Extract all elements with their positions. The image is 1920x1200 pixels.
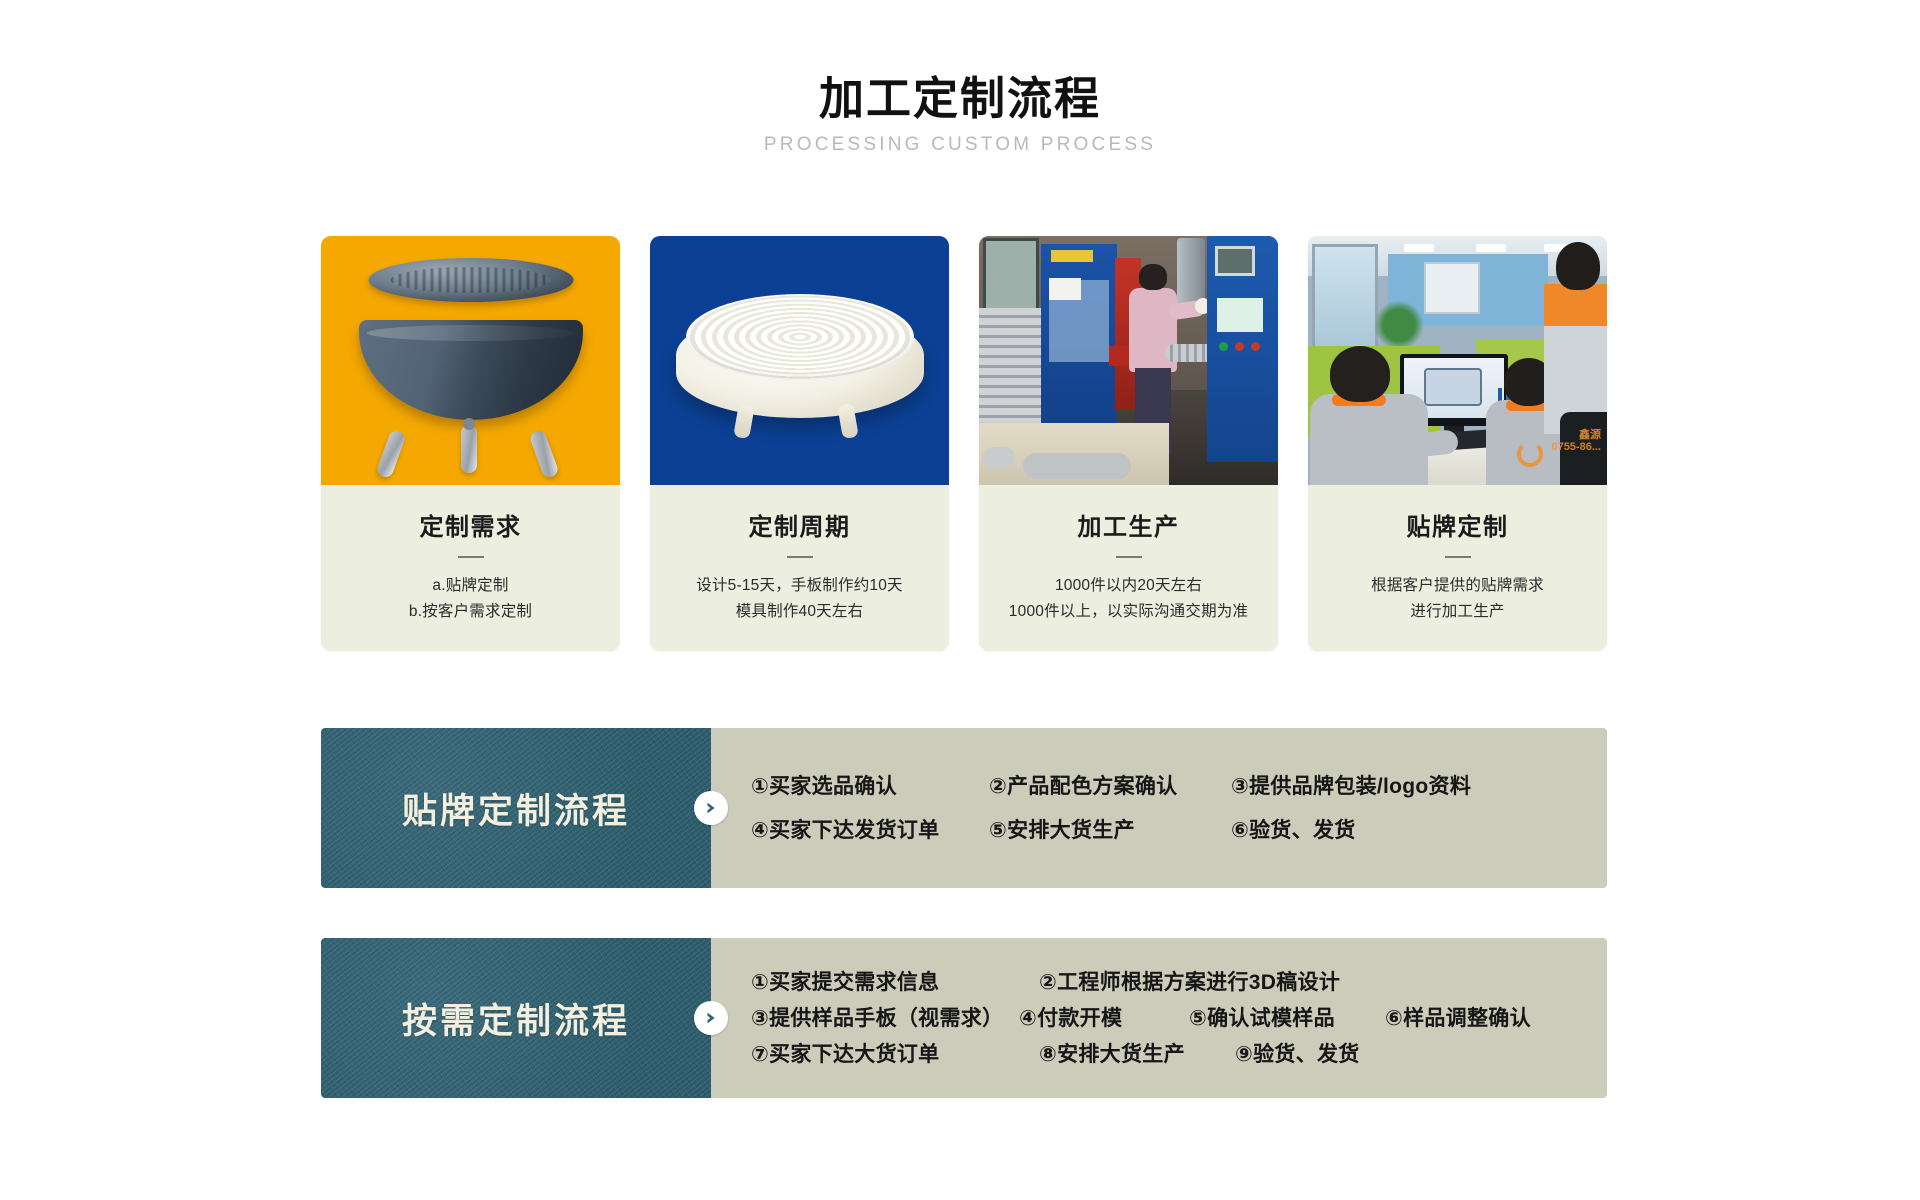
banner-label-text: 贴牌定制流程 [402,783,630,834]
card-title: 定制需求 [333,507,608,542]
process-step: ③提供品牌包装/logo资料 [1231,776,1471,797]
prototype-top-shape [686,294,914,380]
card-description: 设计5-15天，手板制作约10天 模具制作40天左右 [662,573,937,625]
grill-bowl-shape [359,320,583,420]
grill-leg-shape [528,429,559,480]
factory-production-photo [979,236,1278,485]
process-step: ⑧安排大货生产 [1039,1044,1235,1065]
card-body: 定制周期 设计5-15天，手板制作约10天 模具制作40天左右 [650,485,949,651]
card-body: 定制需求 a.贴牌定制 b.按客户需求定制 [321,485,620,651]
card-body: 贴牌定制 根据客户提供的贴牌需求 进行加工生产 [1308,485,1607,651]
grill-leg-shape [461,425,477,473]
chevron-right-icon[interactable] [694,1001,728,1035]
card-description-line: 设计5-15天，手板制作约10天 [662,573,937,599]
worker-head [1139,264,1167,290]
control-screen [1217,298,1263,332]
step-row: ③提供样品手板（视需求） ④付款开模 ⑤确认试模样品 ⑥样品调整确认 [751,1000,1607,1036]
process-card-oem-custom[interactable]: 鑫源 0755-86... 贴牌定制 根据客户提供的贴牌需求 进行加工生产 [1308,236,1607,651]
office-design-team-photo: 鑫源 0755-86... [1308,236,1607,485]
card-description: 1000件以内20天左右 1000件以上，以实际沟通交期为准 [991,573,1266,625]
banner-label-oem: 贴牌定制流程 [321,728,711,888]
office-plant [1374,294,1424,346]
control-button [1235,342,1244,351]
cad-drawing-on-screen [1424,368,1482,406]
card-description-line: a.贴牌定制 [333,573,608,599]
page-title: 加工定制流程 [0,74,1920,124]
process-step: ①买家选品确认 [751,776,989,797]
card-divider [787,556,813,558]
processing-custom-process-page: 加工定制流程 PROCESSING CUSTOM PROCESS 定制需求 a.… [0,0,1920,1200]
card-description-line: 模具制作40天左右 [662,599,937,625]
process-card-custom-requirement[interactable]: 定制需求 a.贴牌定制 b.按客户需求定制 [321,236,620,651]
card-description-line: 1000件以上，以实际沟通交期为准 [991,599,1266,625]
control-button [1219,342,1228,351]
process-step: ④付款开模 [1019,1008,1189,1029]
step-row: ①买家提交需求信息 ②工程师根据方案进行3D稿设计 [751,964,1607,1000]
process-step: ⑥验货、发货 [1231,820,1356,841]
page-subtitle: PROCESSING CUSTOM PROCESS [0,134,1920,156]
banner-steps-oem: ①买家选品确认 ②产品配色方案确认 ③提供品牌包装/logo资料 ④买家下达发货… [711,728,1607,888]
process-step: ⑦买家下达大货订单 [751,1044,1039,1065]
chevron-right-icon[interactable] [694,791,728,825]
process-cards-row: 定制需求 a.贴牌定制 b.按客户需求定制 定制周期 设计5-15天，手板 [321,236,1607,651]
watermark-ring-icon [1517,441,1543,467]
machine-yellow-label [1051,250,1093,262]
grill-leg-shape [375,429,406,480]
process-step: ⑨验货、发货 [1235,1044,1360,1065]
process-card-production[interactable]: 加工生产 1000件以内20天左右 1000件以上，以实际沟通交期为准 [979,236,1278,651]
card-title: 加工生产 [991,507,1266,542]
engineer-head [1330,346,1390,402]
warning-sign [1049,278,1081,300]
step-row: ①买家选品确认 ②产品配色方案确认 ③提供品牌包装/logo资料 [751,764,1607,808]
product-exploded-view-image [321,236,620,485]
process-step: ⑥样品调整确认 [1385,1008,1531,1029]
process-step: ①买家提交需求信息 [751,972,1039,993]
watermark-line: 鑫源 [1509,429,1601,441]
card-description-line: 1000件以内20天左右 [991,573,1266,599]
engineer-head [1556,242,1600,290]
process-step: ⑤确认试模样品 [1189,1008,1385,1029]
process-step: ③提供样品手板（视需求） [751,1008,1019,1029]
card-description-line: 根据客户提供的贴牌需求 [1320,573,1595,599]
company-watermark-logo: 鑫源 0755-86... [1509,429,1601,477]
molded-part [1023,453,1131,479]
on-demand-custom-process-banner: 按需定制流程 ①买家提交需求信息 ②工程师根据方案进行3D稿设计 ③提供样品手板… [321,938,1607,1098]
molded-part [983,447,1015,469]
card-divider [1445,556,1471,558]
card-divider [1116,556,1142,558]
control-screen [1215,246,1255,276]
process-step: ④买家下达发货订单 [751,820,989,841]
process-step: ②产品配色方案确认 [989,776,1231,797]
white-prototype-sample-image [650,236,949,485]
process-card-custom-cycle[interactable]: 定制周期 设计5-15天，手板制作约10天 模具制作40天左右 [650,236,949,651]
office-window [1312,244,1378,354]
card-title: 定制周期 [662,507,937,542]
process-step: ⑤安排大货生产 [989,820,1231,841]
step-row: ⑦买家下达大货订单 ⑧安排大货生产 ⑨验货、发货 [751,1036,1607,1072]
banner-label-text: 按需定制流程 [402,993,630,1044]
step-row: ④买家下达发货订单 ⑤安排大货生产 ⑥验货、发货 [751,808,1607,852]
page-header: 加工定制流程 PROCESSING CUSTOM PROCESS [0,0,1920,156]
card-description: 根据客户提供的贴牌需求 进行加工生产 [1320,573,1595,625]
card-description-line: 进行加工生产 [1320,599,1595,625]
ceiling-light [1404,244,1434,252]
grill-lid-shape [368,258,573,302]
ceiling-light [1476,244,1506,252]
card-title: 贴牌定制 [1320,507,1595,542]
card-body: 加工生产 1000件以内20天左右 1000件以上，以实际沟通交期为准 [979,485,1278,651]
card-description-line: b.按客户需求定制 [333,599,608,625]
control-button [1251,342,1260,351]
card-description: a.贴牌定制 b.按客户需求定制 [333,573,608,625]
wall-poster [1424,262,1480,314]
oem-custom-process-banner: 贴牌定制流程 ①买家选品确认 ②产品配色方案确认 ③提供品牌包装/logo资料 … [321,728,1607,888]
banner-steps-on-demand: ①买家提交需求信息 ②工程师根据方案进行3D稿设计 ③提供样品手板（视需求） ④… [711,938,1607,1098]
process-step: ②工程师根据方案进行3D稿设计 [1039,972,1340,993]
card-divider [458,556,484,558]
banner-label-on-demand: 按需定制流程 [321,938,711,1098]
